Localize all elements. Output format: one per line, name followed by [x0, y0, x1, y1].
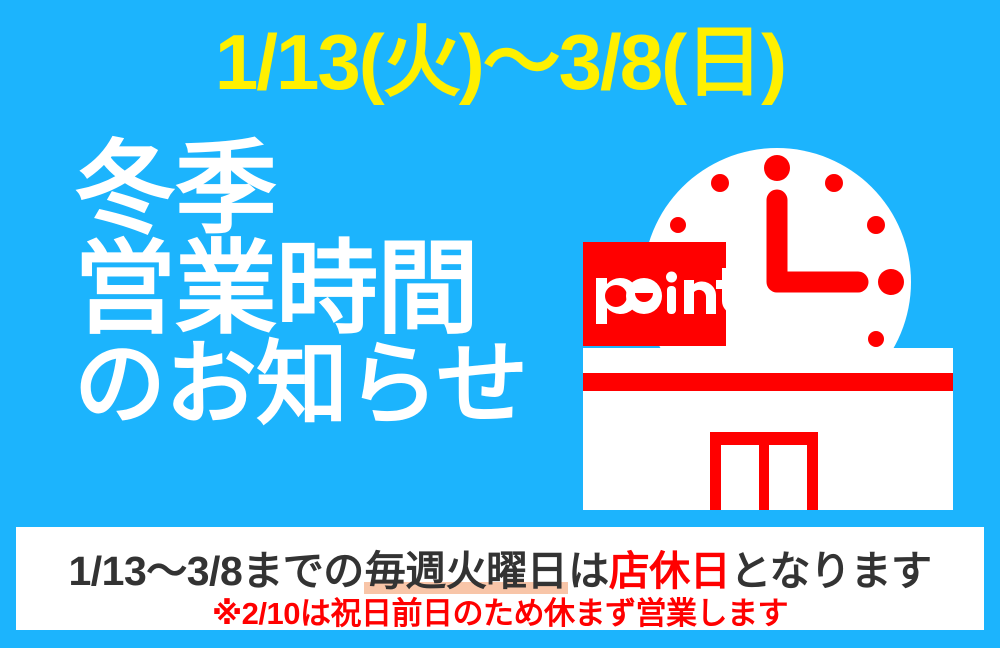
store-building [583, 348, 953, 510]
headline-line-1: 冬季 [74, 140, 574, 240]
notice-line-2: ※2/10は祝日前日のため休まず営業します [16, 588, 984, 633]
store-clock-illustration [560, 130, 960, 510]
headline-block: 冬季 営業時間 のお知らせ [74, 140, 574, 430]
date-range-title: 1/13(火)〜3/8(日) [0, 22, 1000, 104]
notice-panel: 1/13〜3/8までの毎週火曜日は店休日となります ※2/10は祝日前日のため休… [16, 527, 984, 630]
headline-line-3: のお知らせ [74, 340, 574, 430]
point-sign [583, 242, 742, 346]
poster-root: 1/13(火)〜3/8(日) 冬季 営業時間 のお知らせ [0, 0, 1000, 648]
headline-line-2: 営業時間 [74, 240, 574, 340]
